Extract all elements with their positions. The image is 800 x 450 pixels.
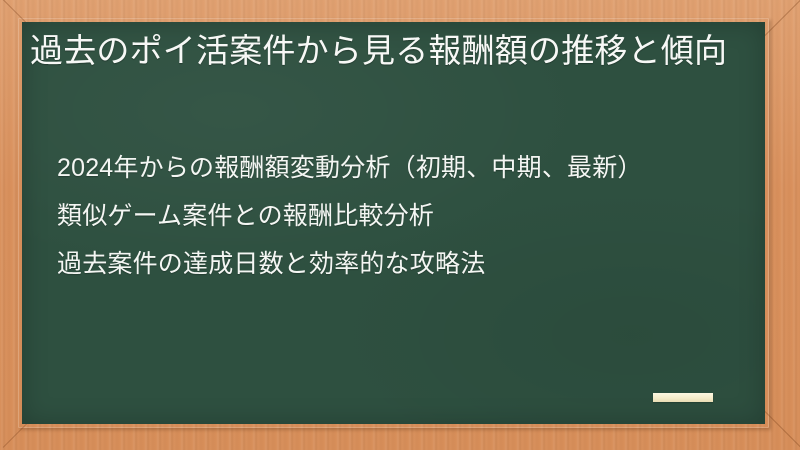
- chalkboard-surface: 過去のポイ活案件から見る報酬額の推移と傾向 2024年からの報酬額変動分析（初期…: [22, 22, 765, 424]
- slide-title: 過去のポイ活案件から見る報酬額の推移と傾向: [30, 28, 736, 74]
- bullet-item-2: 類似ゲーム案件との報酬比較分析: [57, 198, 747, 234]
- bullet-item-1: 2024年からの報酬額変動分析（初期、中期、最新）: [57, 150, 747, 186]
- bullet-item-3: 過去案件の達成日数と効率的な攻略法: [57, 246, 747, 282]
- blackboard-slide: 過去のポイ活案件から見る報酬額の推移と傾向 2024年からの報酬額変動分析（初期…: [0, 0, 800, 450]
- slide-bullet-list: 2024年からの報酬額変動分析（初期、中期、最新） 類似ゲーム案件との報酬比較分…: [57, 150, 747, 282]
- chalk-stick-icon: [653, 393, 713, 402]
